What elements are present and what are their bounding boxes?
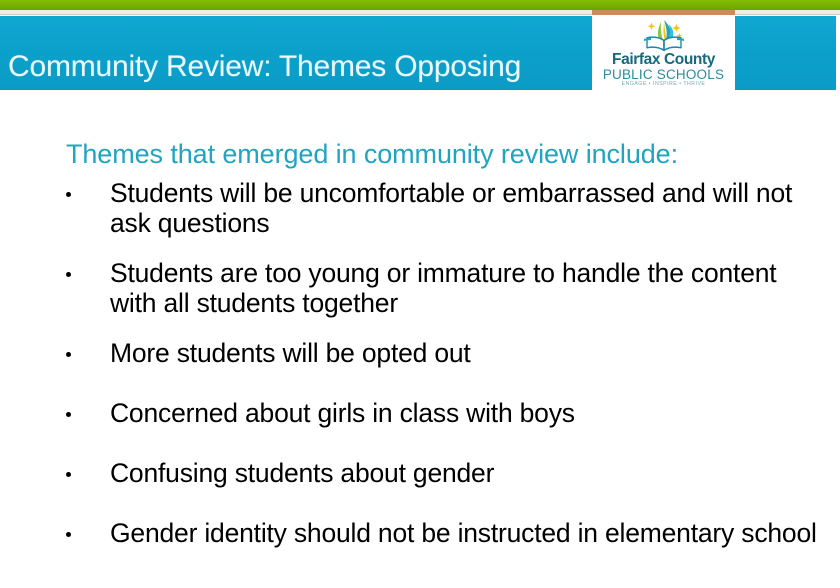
list-item-text: More students will be opted out (0, 338, 840, 368)
list-item: Students are too young or immature to ha… (0, 258, 840, 318)
logo-line-1: Fairfax County (592, 51, 735, 68)
logo-line-2: PUBLIC SCHOOLS (592, 67, 735, 82)
list-item-text: Students are too young or immature to ha… (0, 258, 840, 318)
presentation-slide: Community Review: Themes Opposing (0, 0, 840, 588)
list-item-text: Concerned about girls in class with boys (0, 398, 840, 428)
logo-tan-accent-stripe (592, 10, 735, 15)
list-item-text: Students will be uncomfortable or embarr… (0, 178, 840, 238)
top-green-stripe (0, 0, 840, 10)
slide-content: Themes that emerged in community review … (0, 90, 840, 588)
bullet-dot-icon (66, 272, 71, 277)
bullet-dot-icon (66, 412, 71, 417)
slide-title: Community Review: Themes Opposing (8, 48, 578, 86)
list-item: Students will be uncomfortable or embarr… (0, 178, 840, 238)
list-item: More students will be opted out (0, 338, 840, 378)
bullet-list: Students will be uncomfortable or embarr… (0, 178, 840, 568)
list-item-text: Confusing students about gender (0, 458, 840, 488)
bullet-dot-icon (66, 472, 71, 477)
bullet-dot-icon (66, 352, 71, 357)
open-book-flame-icon (633, 18, 695, 52)
list-item-text: Gender identity should not be instructed… (0, 518, 840, 548)
bullet-dot-icon (66, 532, 71, 537)
logo-tagline: ENGAGE • INSPIRE • THRIVE (592, 81, 735, 88)
list-item: Gender identity should not be instructed… (0, 518, 840, 558)
bullet-dot-icon (66, 192, 71, 197)
content-lead-heading: Themes that emerged in community review … (66, 138, 678, 170)
logo-inner: Fairfax County PUBLIC SCHOOLS ENGAGE • I… (592, 16, 735, 92)
fcps-logo: Fairfax County PUBLIC SCHOOLS ENGAGE • I… (592, 16, 735, 92)
list-item: Confusing students about gender (0, 458, 840, 498)
list-item: Concerned about girls in class with boys (0, 398, 840, 438)
